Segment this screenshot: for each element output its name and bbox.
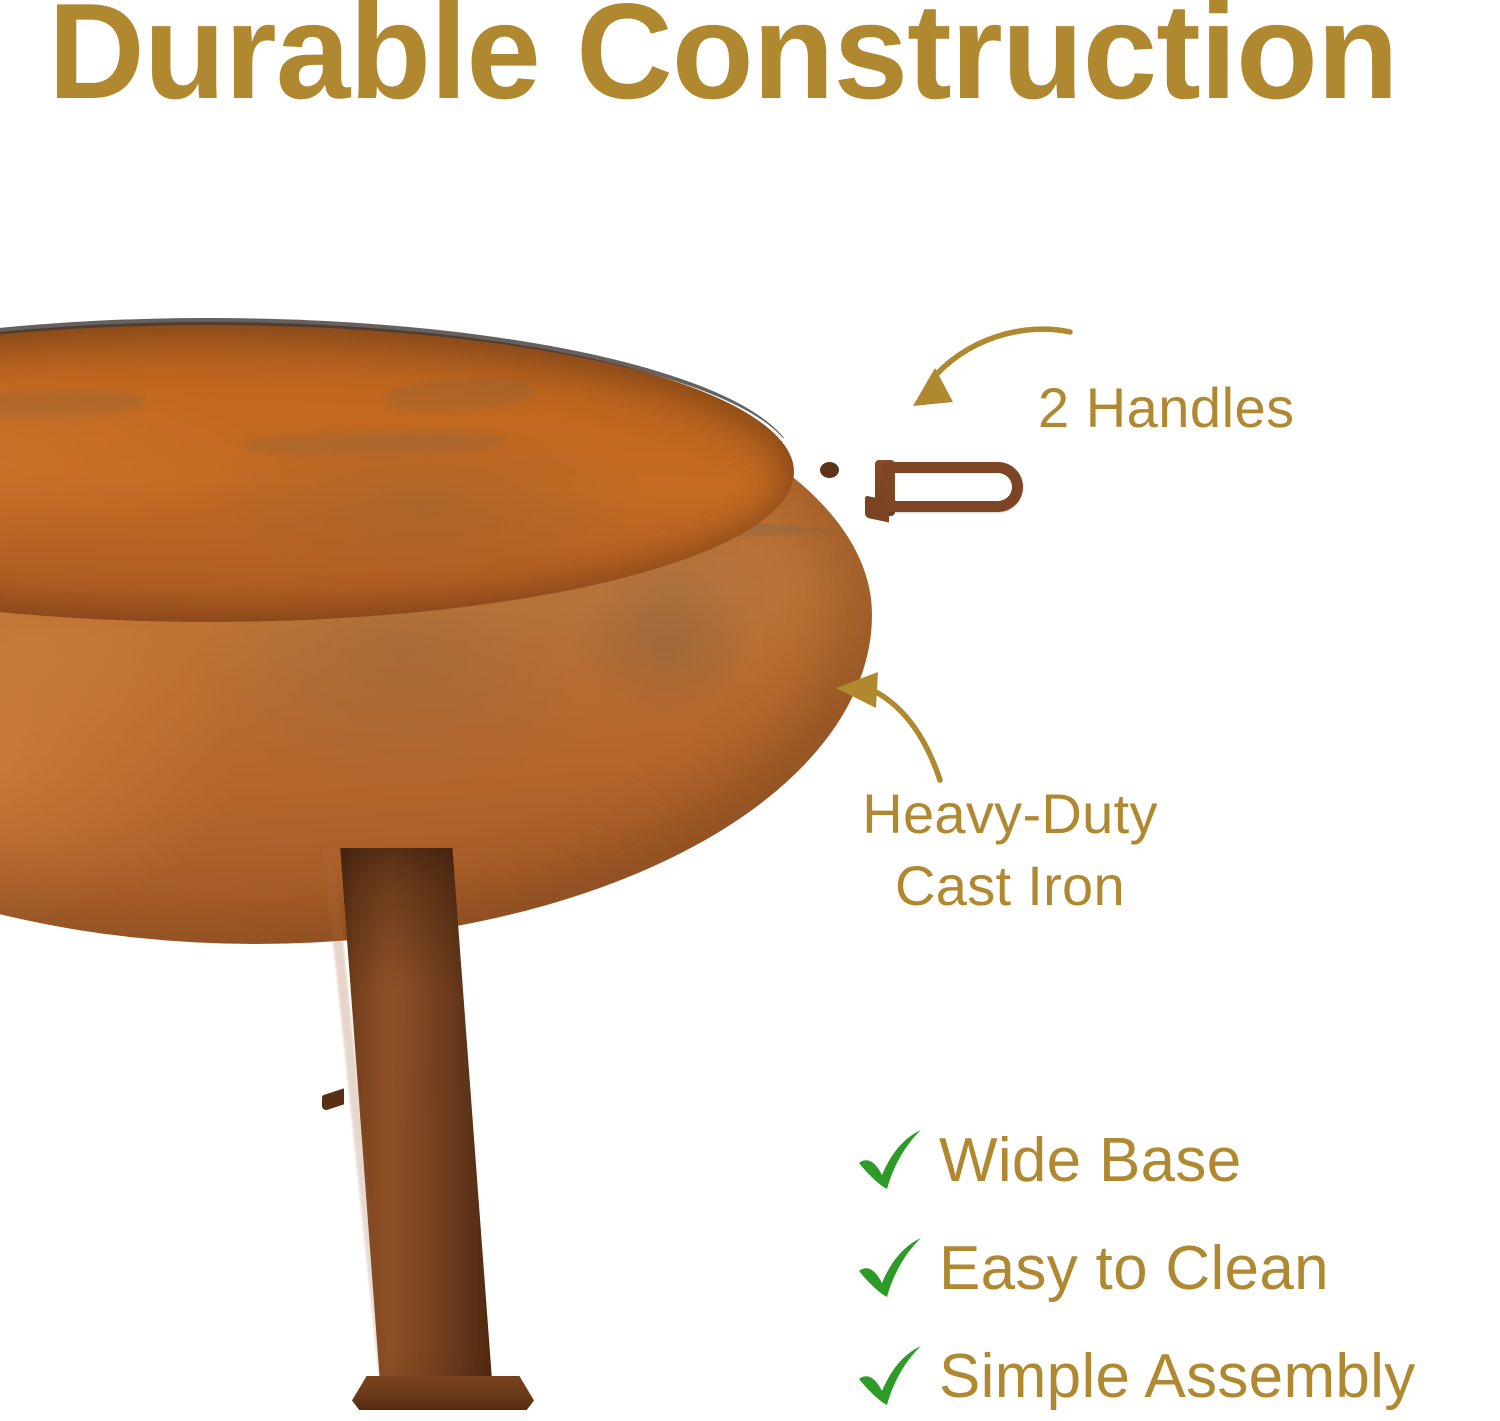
rust-patch [570,564,760,724]
list-item: Simple Assembly [855,1323,1500,1421]
drain-hole [820,462,839,478]
annotation-handles-label: 2 Handles [1038,377,1295,439]
fire-pit-leg [330,848,660,1421]
fire-pit-bowl [0,300,920,940]
annotation-cast-iron-label: Heavy-Duty Cast Iron [815,778,1205,922]
leg-bracket [322,1088,344,1111]
leg-foot-plate [352,1376,534,1410]
check-icon [855,1345,927,1409]
feature-label: Easy to Clean [939,1236,1329,1302]
list-item: Easy to Clean [855,1215,1500,1323]
page-title: Durable Construction [48,0,1486,116]
handle-loop [883,462,1023,512]
bowl-handle [875,458,1025,520]
feature-label: Wide Base [939,1128,1242,1194]
list-item: Wide Base [855,1107,1500,1215]
feature-label: Simple Assembly [939,1344,1416,1410]
feature-list: Wide Base Easy to Clean Simple Assembly [855,1107,1500,1421]
check-icon [855,1129,927,1193]
product-image [0,300,920,1421]
check-icon [855,1237,927,1301]
product-infographic: Durable Construction [0,0,1500,1421]
